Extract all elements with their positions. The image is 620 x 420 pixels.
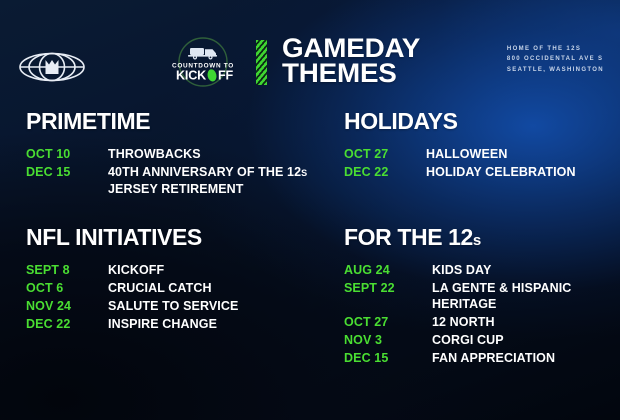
row-date: DEC 15 [26,164,108,180]
row-date: DEC 22 [26,316,108,332]
row-label: KICKOFF [108,262,336,278]
row-date: DEC 15 [344,350,432,366]
section-holidays: HOLIDAYS OCT 27 HALLOWEEN DEC 22 HOLIDAY… [344,110,612,182]
row-date: DEC 22 [344,164,426,180]
address-line-3: SEATTLE, WASHINGTON [507,65,604,75]
schedule-row: AUG 24 KIDS DAY [344,262,616,278]
schedule-row: OCT 6 CRUCIAL CATCH [26,280,336,296]
gameday-themes-poster: COUNTDOWN TO KICK FF GAMEDAY THEMES HOME… [0,0,620,420]
schedule-row: OCT 27 12 NORTH [344,314,616,330]
schedule-row: NOV 24 SALUTE TO SERVICE [26,298,336,314]
row-label: 40TH ANNIVERSARY OF THE 12s JERSEY RETIR… [108,164,326,197]
row-date: OCT 6 [26,280,108,296]
row-date: NOV 24 [26,298,108,314]
row-label: INSPIRE CHANGE [108,316,336,332]
venue-address: HOME OF THE 12s 800 OCCIDENTAL AVE S SEA… [507,44,604,75]
row-label: HALLOWEEN [426,146,612,162]
row-label: FAN APPRECIATION [432,350,616,366]
section-primetime: PRIMETIME OCT 10 THROWBACKS DEC 15 40TH … [26,110,326,199]
address-line-1: HOME OF THE 12s [507,44,604,54]
row-label: 12 NORTH [432,314,616,330]
poster-header: COUNTDOWN TO KICK FF GAMEDAY THEMES HOME… [0,0,620,104]
schedule-rows-nfl-initiatives: SEPT 8 KICKOFF OCT 6 CRUCIAL CATCH NOV 2… [26,262,336,332]
section-title-primetime: PRIMETIME [26,110,326,133]
row-date: SEPT 22 [344,280,432,296]
green-striped-divider [256,40,267,85]
schedule-row: DEC 15 FAN APPRECIATION [344,350,616,366]
row-label: KIDS DAY [432,262,616,278]
schedule-row: OCT 10 THROWBACKS [26,146,326,162]
schedule-row: DEC 22 HOLIDAY CELEBRATION [344,164,612,180]
schedule-rows-holidays: OCT 27 HALLOWEEN DEC 22 HOLIDAY CELEBRAT… [344,146,612,180]
row-date: OCT 10 [26,146,108,162]
countdown-logo-kick-text: KICK [176,69,206,83]
globe-m-logo [18,46,86,88]
truck-icon [188,48,217,60]
row-label: SALUTE TO SERVICE [108,298,336,314]
address-line-2: 800 OCCIDENTAL AVE S [507,54,604,64]
section-nfl-initiatives: NFL INITIATIVES SEPT 8 KICKOFF OCT 6 CRU… [26,226,336,334]
countdown-logo-ff-text: FF [218,69,233,83]
schedule-row: DEC 22 INSPIRE CHANGE [26,316,336,332]
row-label: HOLIDAY CELEBRATION [426,164,612,180]
row-label: LA GENTE & HISPANIC HERITAGE [432,280,616,312]
section-title-for-the-12s: FOR THE 12s [344,226,616,249]
schedule-row: SEPT 22 LA GENTE & HISPANIC HERITAGE [344,280,616,312]
section-title-holidays: HOLIDAYS [344,110,612,133]
page-title: GAMEDAY THEMES [282,36,416,86]
row-date: OCT 27 [344,146,426,162]
row-date: SEPT 8 [26,262,108,278]
schedule-row: NOV 3 CORGI CUP [344,332,616,348]
schedule-row: OCT 27 HALLOWEEN [344,146,612,162]
page-title-line-2: THEMES [282,61,420,86]
row-date: OCT 27 [344,314,432,330]
section-title-nfl-initiatives: NFL INITIATIVES [26,226,336,249]
football-glyph [206,69,217,83]
schedule-rows-for-the-12s: AUG 24 KIDS DAY SEPT 22 LA GENTE & HISPA… [344,262,616,366]
schedule-row: DEC 15 40TH ANNIVERSARY OF THE 12s JERSE… [26,164,326,197]
themes-content: PRIMETIME OCT 10 THROWBACKS DEC 15 40TH … [0,104,620,420]
row-label: CORGI CUP [432,332,616,348]
row-label: CRUCIAL CATCH [108,280,336,296]
countdown-to-kickoff-logo: COUNTDOWN TO KICK FF [160,36,246,88]
schedule-row: SEPT 8 KICKOFF [26,262,336,278]
row-date: AUG 24 [344,262,432,278]
schedule-rows-primetime: OCT 10 THROWBACKS DEC 15 40TH ANNIVERSAR… [26,146,326,197]
section-for-the-12s: FOR THE 12s AUG 24 KIDS DAY SEPT 22 LA G… [344,226,616,368]
row-label: THROWBACKS [108,146,326,162]
row-date: NOV 3 [344,332,432,348]
